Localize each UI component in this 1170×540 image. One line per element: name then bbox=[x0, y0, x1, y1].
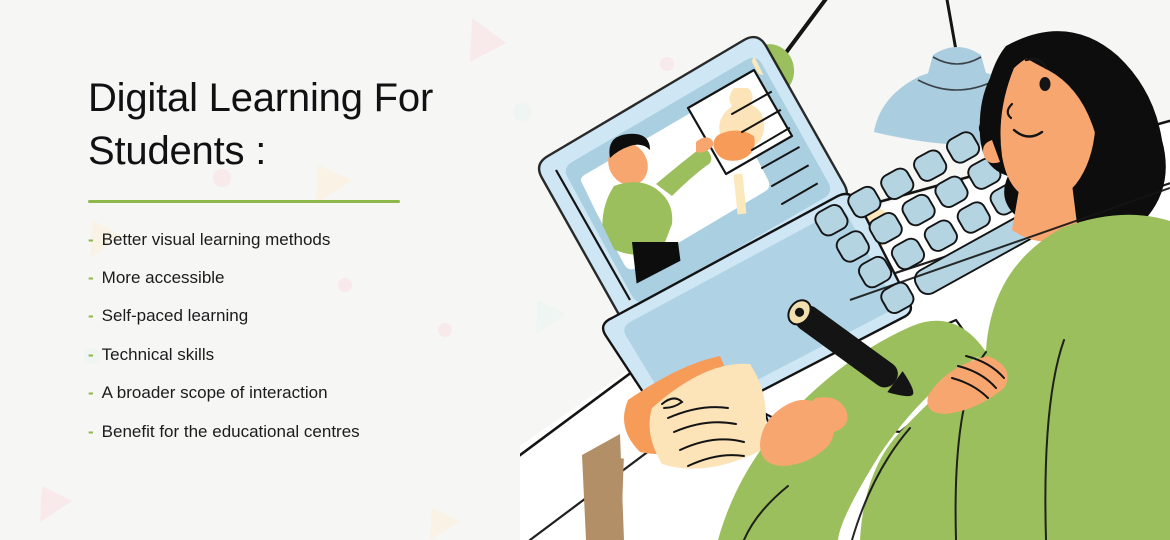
list-item-label: More accessible bbox=[102, 268, 225, 288]
list-item-label: Benefit for the educational centres bbox=[102, 422, 360, 442]
list-item: - Technical skills bbox=[88, 345, 508, 365]
list-item-label: Technical skills bbox=[102, 345, 214, 365]
page-title: Digital Learning For Students : bbox=[88, 72, 508, 178]
bullet-dash-icon: - bbox=[88, 346, 94, 363]
list-item-label: Better visual learning methods bbox=[102, 230, 331, 250]
student-learning-illustration bbox=[520, 0, 1170, 540]
poster-canvas: Digital Learning For Students : - Better… bbox=[0, 0, 1170, 540]
list-item: - Self-paced learning bbox=[88, 306, 508, 326]
list-item: - Benefit for the educational centres bbox=[88, 422, 508, 442]
list-item-label: A broader scope of interaction bbox=[102, 383, 328, 403]
screen-status-dot bbox=[808, 36, 828, 56]
bullet-dash-icon: - bbox=[88, 307, 94, 324]
bullet-dash-icon: - bbox=[88, 231, 94, 248]
list-item: - A broader scope of interaction bbox=[88, 383, 508, 403]
list-item: - Better visual learning methods bbox=[88, 230, 508, 250]
list-item: - More accessible bbox=[88, 268, 508, 288]
title-divider bbox=[88, 200, 400, 203]
benefits-list: - Better visual learning methods - More … bbox=[88, 230, 508, 442]
student-eye bbox=[1040, 77, 1051, 91]
bullet-dash-icon: - bbox=[88, 269, 94, 286]
bullet-dash-icon: - bbox=[88, 384, 94, 401]
list-item-label: Self-paced learning bbox=[102, 306, 248, 326]
bullet-dash-icon: - bbox=[88, 423, 94, 440]
text-panel: Digital Learning For Students : - Better… bbox=[88, 72, 508, 442]
